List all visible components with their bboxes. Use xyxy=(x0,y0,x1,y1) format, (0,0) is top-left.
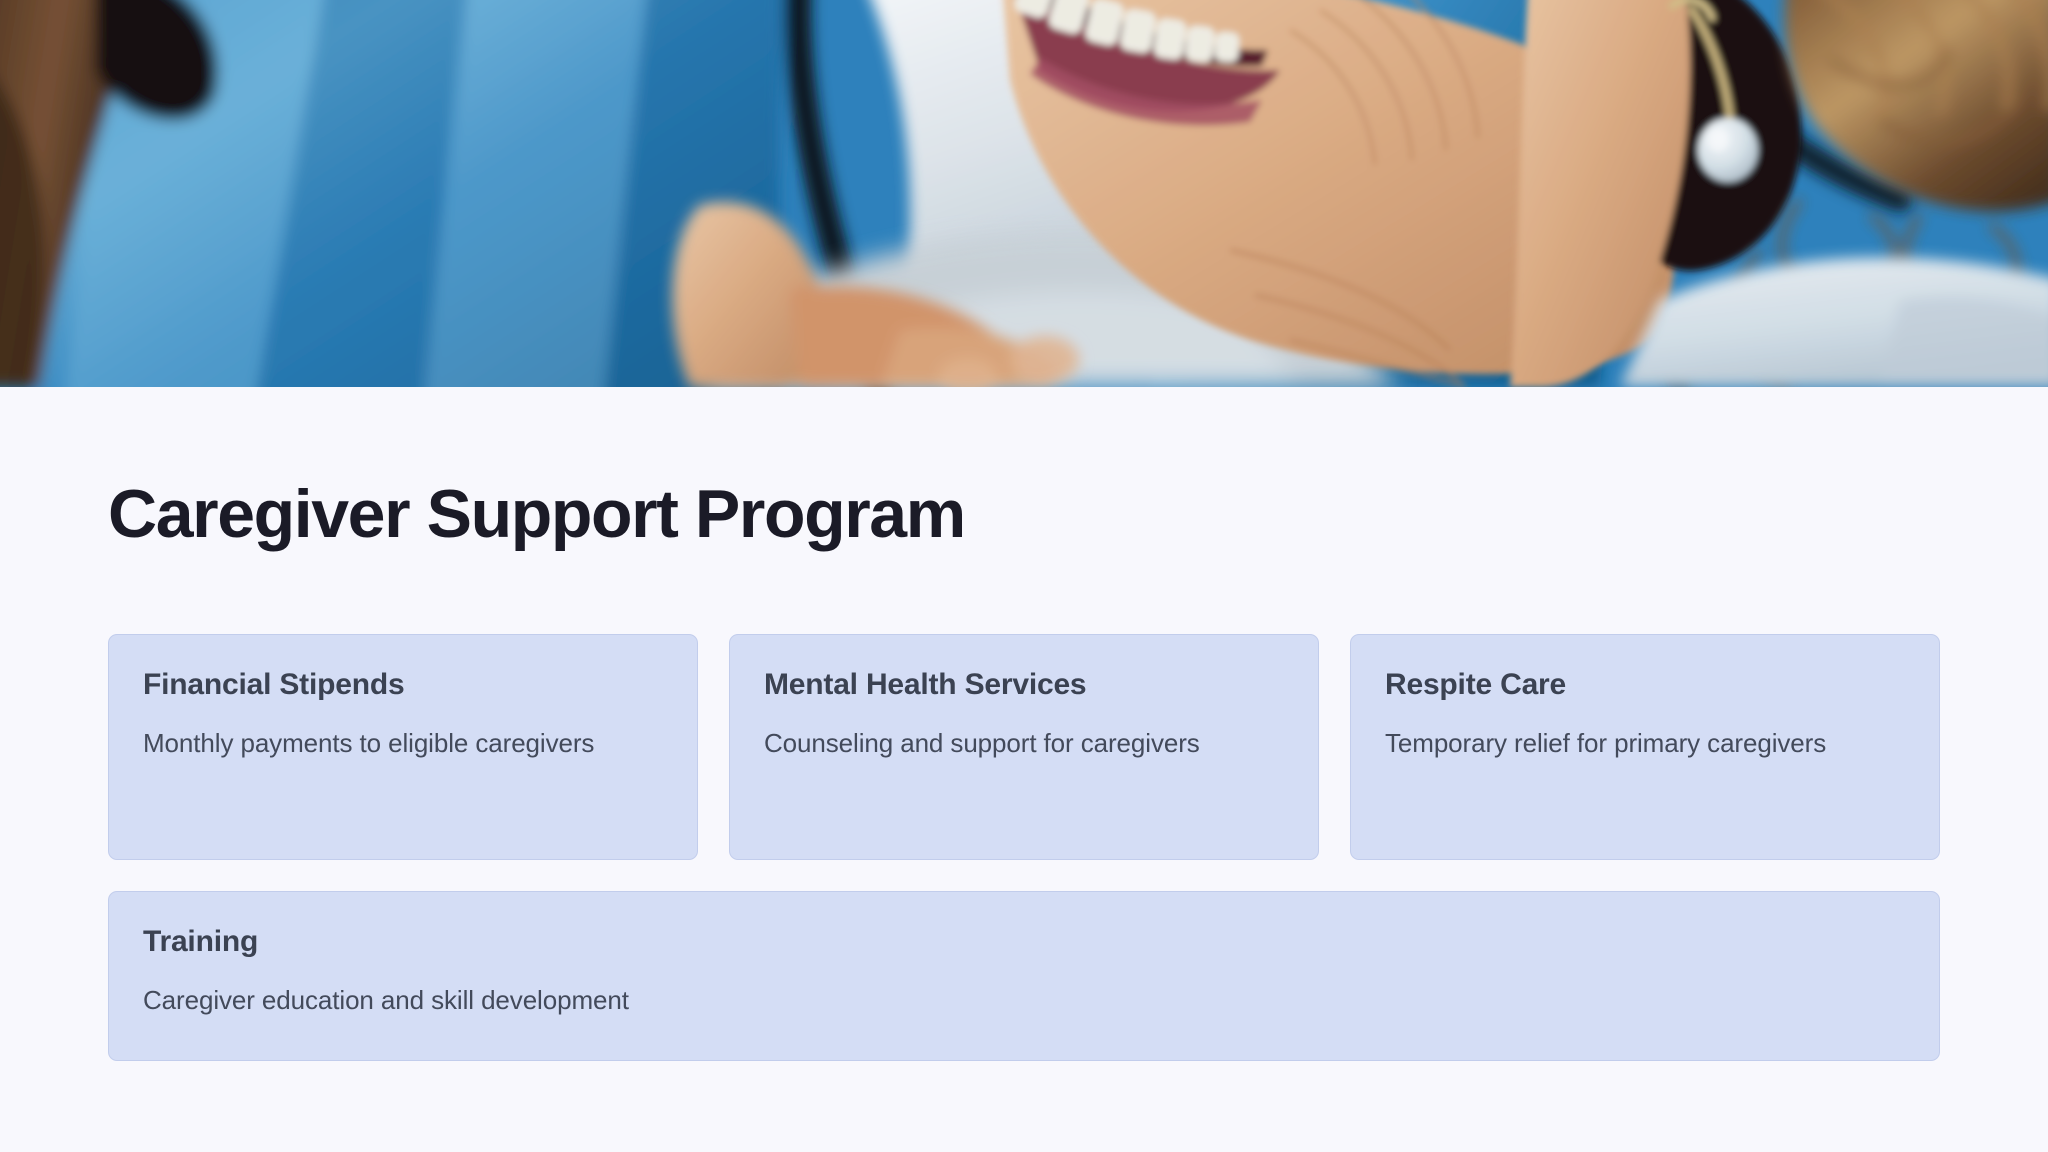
card-title: Respite Care xyxy=(1385,666,1905,704)
program-card-financial-stipends[interactable]: Financial Stipends Monthly payments to e… xyxy=(108,634,698,860)
program-card-mental-health-services[interactable]: Mental Health Services Counseling and su… xyxy=(729,634,1319,860)
program-card-training[interactable]: Training Caregiver education and skill d… xyxy=(108,891,1940,1061)
card-title: Training xyxy=(143,923,1905,961)
page-title: Caregiver Support Program xyxy=(108,479,1940,550)
program-card-grid: Financial Stipends Monthly payments to e… xyxy=(108,634,1940,1061)
hero-photo xyxy=(0,0,2048,387)
hero-banner xyxy=(0,0,2048,387)
card-description: Counseling and support for caregivers xyxy=(764,724,1284,763)
card-description: Temporary relief for primary caregivers xyxy=(1385,724,1905,763)
page-root: Caregiver Support Program Financial Stip… xyxy=(0,0,2048,1152)
program-card-respite-care[interactable]: Respite Care Temporary relief for primar… xyxy=(1350,634,1940,860)
card-title: Financial Stipends xyxy=(143,666,663,704)
card-description: Caregiver education and skill developmen… xyxy=(143,981,1905,1020)
card-description: Monthly payments to eligible caregivers xyxy=(143,724,663,763)
main-content: Caregiver Support Program Financial Stip… xyxy=(0,387,2048,1152)
card-title: Mental Health Services xyxy=(764,666,1284,704)
